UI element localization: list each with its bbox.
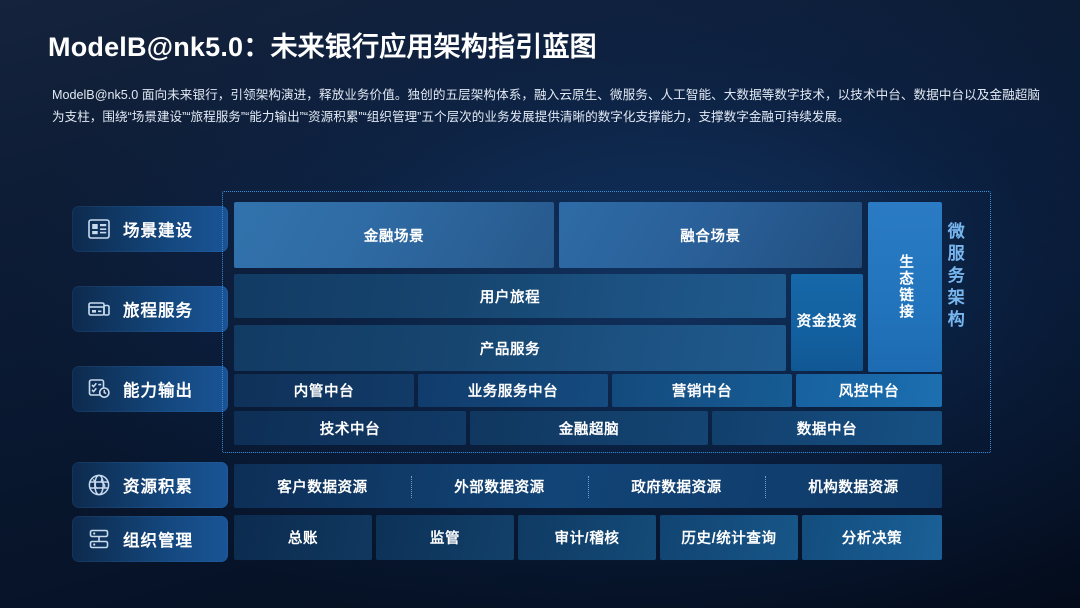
block-ecosystem-link[interactable]: 生态链接 (868, 202, 942, 372)
block-risk-control-midend[interactable]: 风控中台 (796, 374, 942, 407)
block-audit-inspection[interactable]: 审计/稽核 (518, 515, 656, 560)
block-fund-investment[interactable]: 资金投资 (791, 274, 863, 371)
block-history-statistics-query[interactable]: 历史/统计查询 (660, 515, 798, 560)
block-label: 监管 (430, 527, 460, 548)
sidebar-item-capability-output[interactable]: 能力输出 (72, 366, 228, 412)
block-product-service[interactable]: 产品服务 (234, 325, 786, 371)
block-label: 风控中台 (839, 380, 899, 401)
block-label: 数据中台 (797, 418, 857, 439)
block-institution-data-resource[interactable]: 机构数据资源 (765, 464, 942, 508)
block-label: 资金投资 (797, 313, 857, 331)
checklist-clock-icon (84, 374, 114, 404)
card-payment-icon (84, 294, 114, 324)
block-technology-midend[interactable]: 技术中台 (234, 411, 466, 445)
sidebar-item-organization-management[interactable]: 组织管理 (72, 516, 228, 562)
block-label: 客户数据资源 (277, 476, 368, 497)
block-label: 融合场景 (680, 225, 740, 246)
block-financial-scene[interactable]: 金融场景 (234, 202, 554, 268)
block-label: 产品服务 (480, 338, 540, 359)
globe-icon (84, 470, 114, 500)
sidebar-item-label: 组织管理 (123, 527, 193, 551)
block-label: 审计/稽核 (554, 527, 619, 548)
org-chart-icon (84, 524, 114, 554)
layer-sidebar: 场景建设 旅程服务 能力输出 (72, 192, 228, 560)
block-marketing-midend[interactable]: 营销中台 (612, 374, 792, 407)
block-label: 营销中台 (672, 380, 732, 401)
block-label: 生态链接 (896, 254, 914, 320)
block-business-service-midend[interactable]: 业务服务中台 (418, 374, 608, 407)
sidebar-item-label: 资源积累 (123, 473, 193, 497)
layout-dashboard-icon (84, 214, 114, 244)
sidebar-item-resource-accumulation[interactable]: 资源积累 (72, 462, 228, 508)
block-label: 外部数据资源 (454, 476, 545, 497)
page-subtitle: ModelB@nk5.0 面向未来银行，引领架构演进，释放业务价值。独创的五层架… (52, 84, 1040, 128)
block-government-data-resource[interactable]: 政府数据资源 (588, 464, 765, 508)
page-title: ModelB@nk5.0：未来银行应用架构指引蓝图 (48, 25, 597, 64)
block-internal-mgmt-midend[interactable]: 内管中台 (234, 374, 414, 407)
block-general-ledger[interactable]: 总账 (234, 515, 372, 560)
microservice-architecture-label: 微服务架构 (944, 222, 963, 332)
sidebar-item-journey-service[interactable]: 旅程服务 (72, 286, 228, 332)
block-label: 金融场景 (364, 225, 424, 246)
block-label: 机构数据资源 (808, 476, 899, 497)
block-label: 分析决策 (842, 527, 902, 548)
block-label: 业务服务中台 (468, 380, 559, 401)
block-label: 历史/统计查询 (681, 527, 776, 548)
sidebar-item-scene-building[interactable]: 场景建设 (72, 206, 228, 252)
block-label: 技术中台 (320, 418, 380, 439)
resource-divider (588, 476, 589, 498)
block-label: 用户旅程 (480, 286, 540, 307)
sidebar-item-label: 能力输出 (123, 377, 193, 401)
block-integrated-scene[interactable]: 融合场景 (559, 202, 862, 268)
block-financial-superbrain[interactable]: 金融超脑 (470, 411, 708, 445)
block-external-data-resource[interactable]: 外部数据资源 (411, 464, 588, 508)
block-label: 政府数据资源 (631, 476, 722, 497)
block-user-journey[interactable]: 用户旅程 (234, 274, 786, 318)
resource-divider (765, 476, 766, 498)
sidebar-item-label: 场景建设 (123, 217, 193, 241)
block-customer-data-resource[interactable]: 客户数据资源 (234, 464, 411, 508)
block-label: 总账 (288, 527, 318, 548)
block-label: 金融超脑 (559, 418, 619, 439)
resource-divider (411, 476, 412, 498)
resource-layer-bar: 客户数据资源 外部数据资源 政府数据资源 机构数据资源 (234, 464, 942, 508)
block-analysis-decision[interactable]: 分析决策 (802, 515, 942, 560)
block-regulation[interactable]: 监管 (376, 515, 514, 560)
block-data-midend[interactable]: 数据中台 (712, 411, 942, 445)
block-label: 内管中台 (294, 380, 354, 401)
sidebar-item-label: 旅程服务 (123, 297, 193, 321)
